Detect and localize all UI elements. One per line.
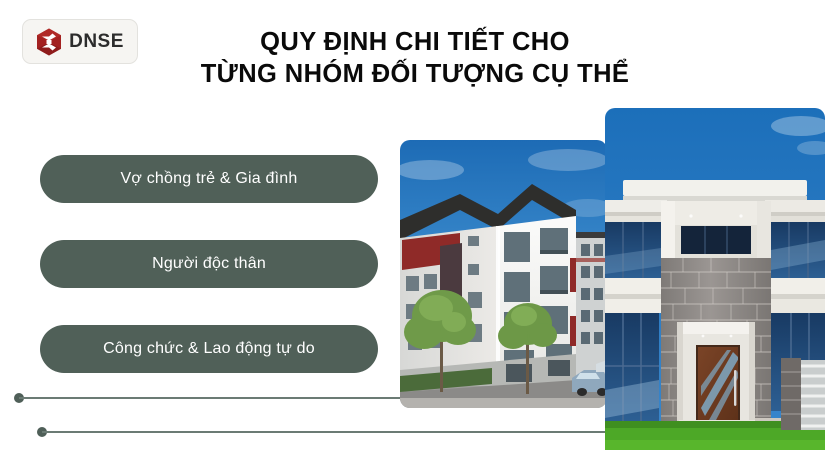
segment-pill-civil-servant-freelancer[interactable]: Công chức & Lao động tự do: [40, 325, 378, 373]
modern-house-photo: [605, 108, 825, 450]
connector-bar: [19, 397, 409, 399]
connector-bar: [42, 431, 622, 433]
page-title: QUY ĐỊNH CHI TIẾT CHO TỪNG NHÓM ĐỐI TƯỢN…: [160, 26, 670, 90]
page-title-line-1: QUY ĐỊNH CHI TIẾT CHO: [260, 28, 570, 56]
segment-pill-single-person[interactable]: Người độc thân: [40, 240, 378, 288]
slide-canvas: DNSE QUY ĐỊNH CHI TIẾT CHO TỪNG NHÓM ĐỐI…: [0, 0, 825, 450]
apartment-building-illustration: [400, 140, 607, 408]
segment-pill-label: Vợ chồng trẻ & Gia đình: [121, 170, 298, 188]
segment-pill-label: Công chức & Lao động tự do: [103, 340, 315, 358]
segment-pill-young-couples-family[interactable]: Vợ chồng trẻ & Gia đình: [40, 155, 378, 203]
dnse-hexagon-logo-icon: [36, 28, 62, 56]
apartment-building-photo: [400, 140, 607, 408]
brand-logo-badge[interactable]: DNSE: [22, 19, 138, 64]
modern-house-illustration: [605, 108, 825, 450]
segment-pill-label: Người độc thân: [152, 255, 266, 273]
page-title-line-2: TỪNG NHÓM ĐỐI TƯỢNG CỤ THỂ: [160, 58, 670, 90]
brand-name-label: DNSE: [69, 32, 124, 51]
